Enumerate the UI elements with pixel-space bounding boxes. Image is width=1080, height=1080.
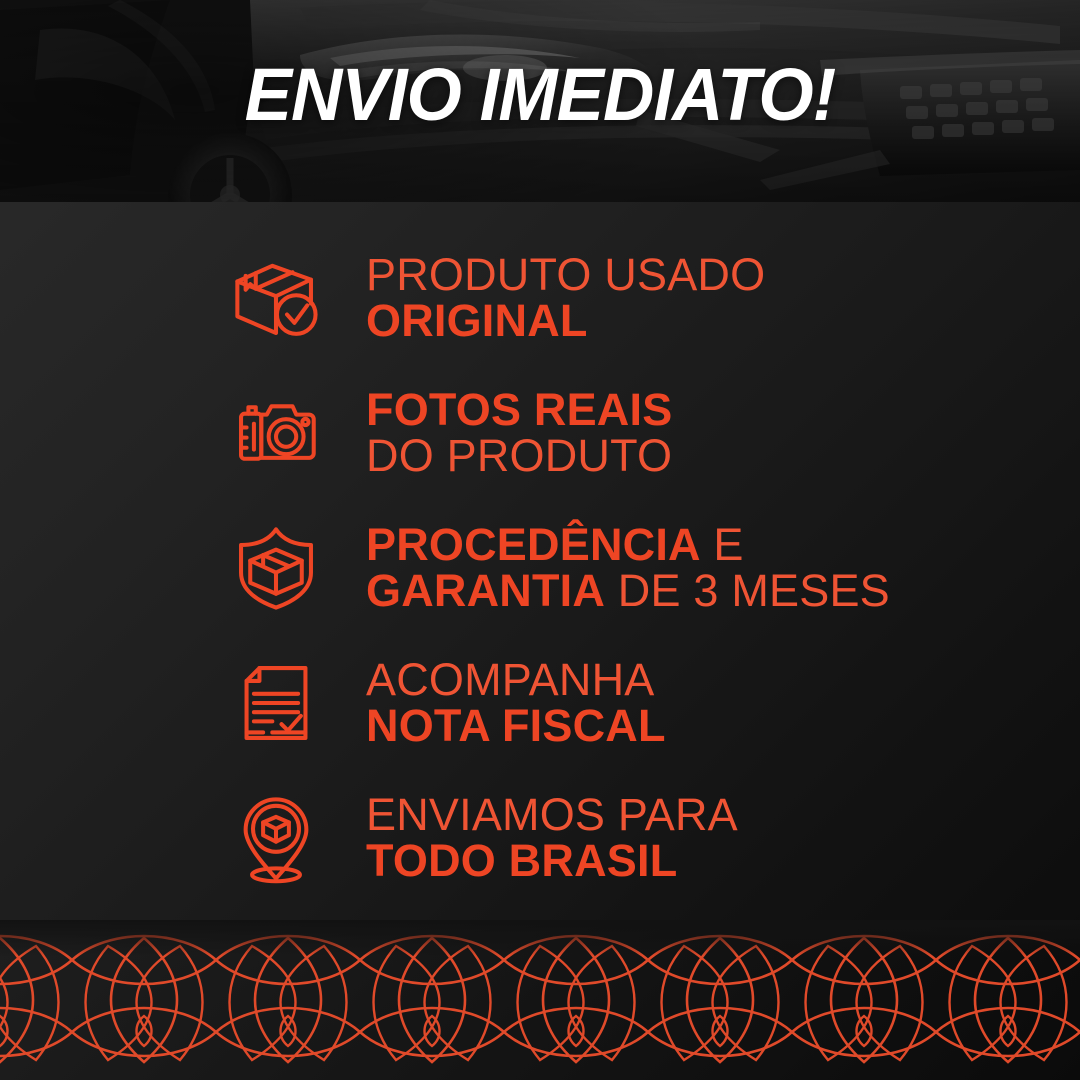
feature-text: PRODUTO USADO ORIGINAL [366,252,765,344]
list-item: PROCEDÊNCIA E GARANTIA DE 3 MESES [0,500,1080,635]
feature-line-2-light: DE 3 MESES [605,565,890,616]
page-title: ENVIO IMEDIATO! [22,58,1059,132]
box-check-icon [228,250,324,346]
invoice-check-icon [228,655,324,751]
list-item: PRODUTO USADO ORIGINAL [0,230,1080,365]
feature-text: PROCEDÊNCIA E GARANTIA DE 3 MESES [366,522,890,614]
feature-line-1: ACOMPANHA [366,657,666,703]
feature-line-2: NOTA FISCAL [366,703,666,749]
feature-line-2-bold: GARANTIA [366,565,605,616]
feature-line-1: ENVIAMOS PARA [366,792,738,838]
list-item: FOTOS REAIS DO PRODUTO [0,365,1080,500]
feature-line-2: DO PRODUTO [366,433,672,479]
promo-banner: ENVIO IMEDIATO! PRODUTO USADO ORIGIN [0,0,1080,1080]
feature-list: PRODUTO USADO ORIGINAL FOTOS REAIS [0,230,1080,905]
feature-line-2: ORIGINAL [366,298,765,344]
feature-text: ACOMPANHA NOTA FISCAL [366,657,666,749]
feature-line-1: PRODUTO USADO [366,252,765,298]
list-item: ACOMPANHA NOTA FISCAL [0,635,1080,770]
shield-box-icon [228,520,324,616]
feature-line-1: FOTOS REAIS [366,387,672,433]
feature-line-1: PROCEDÊNCIA E [366,522,890,568]
geometric-lens-border-pattern [0,920,1080,1080]
feature-text: FOTOS REAIS DO PRODUTO [366,387,672,479]
feature-line-2: TODO BRASIL [366,838,738,884]
feature-line-1-bold: PROCEDÊNCIA [366,519,701,570]
list-item: ENVIAMOS PARA TODO BRASIL [0,770,1080,905]
banner-header: ENVIO IMEDIATO! [0,0,1080,202]
feature-line-1-light: E [701,519,744,570]
feature-text: ENVIAMOS PARA TODO BRASIL [366,792,738,884]
map-pin-box-icon [228,790,324,886]
feature-line-2: GARANTIA DE 3 MESES [366,568,890,614]
camera-icon [228,385,324,481]
